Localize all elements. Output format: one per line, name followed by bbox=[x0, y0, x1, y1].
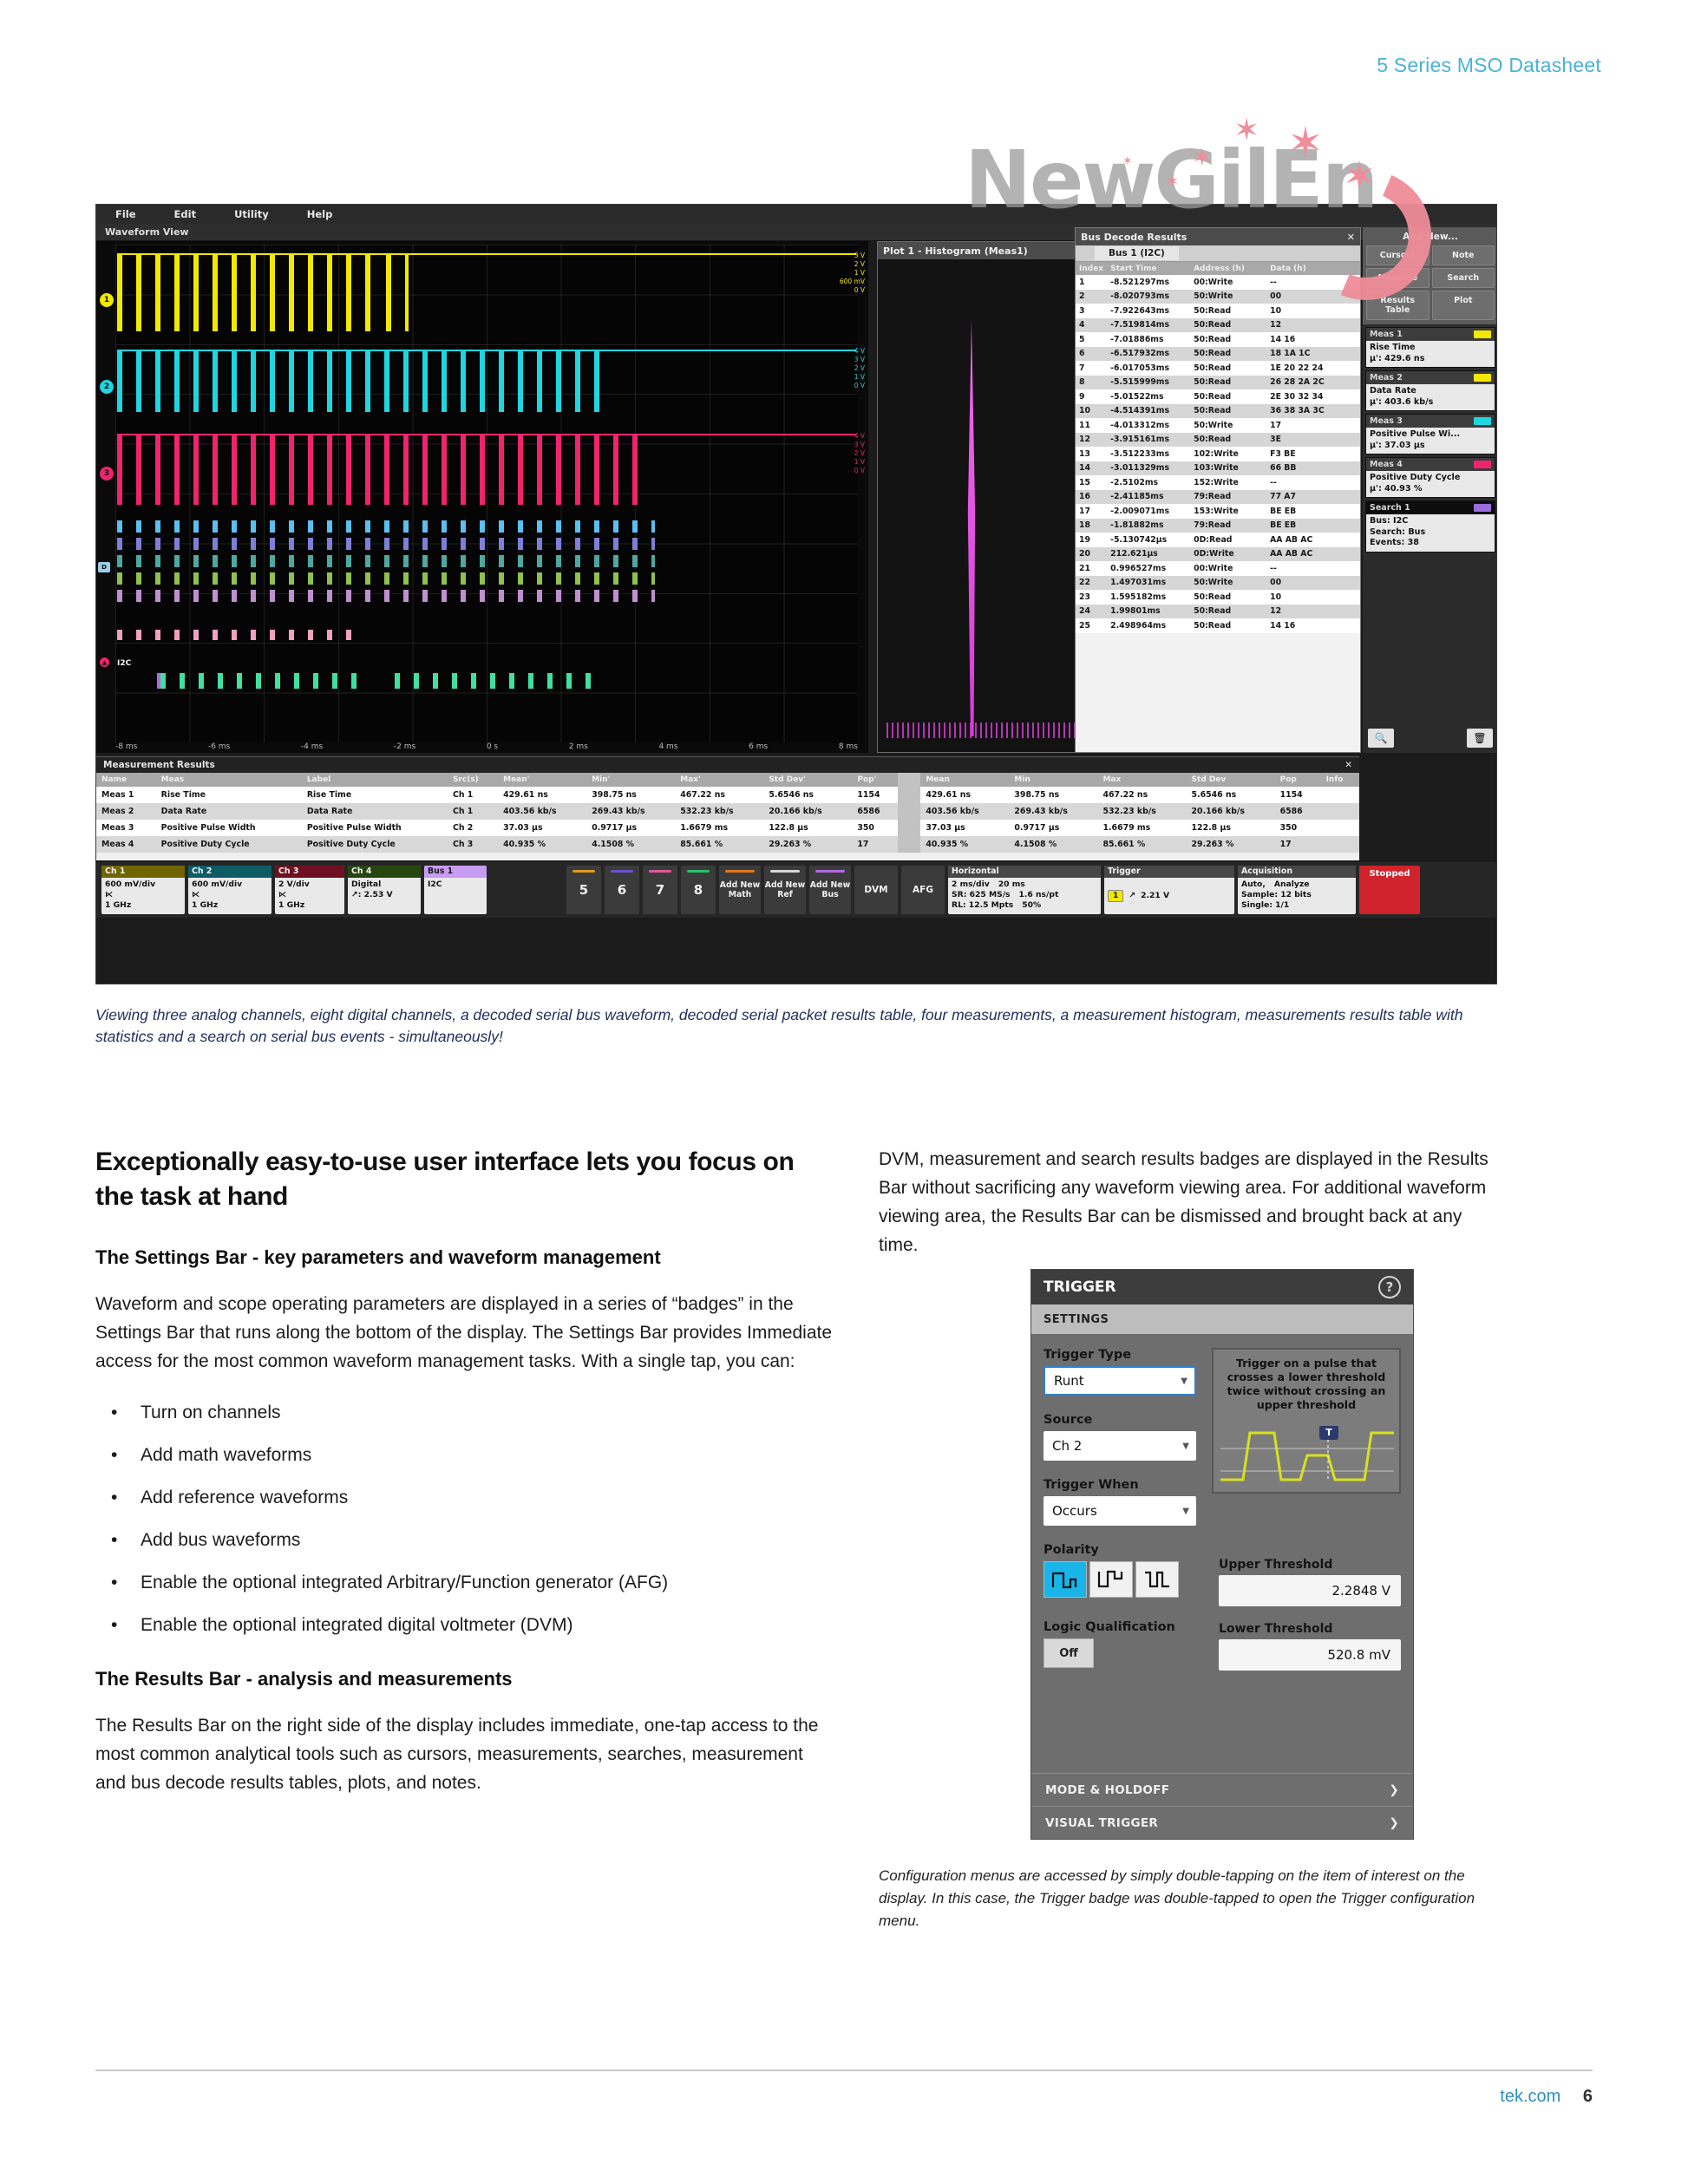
col-label: Label bbox=[302, 773, 448, 787]
afg-button[interactable]: AFG bbox=[901, 866, 945, 914]
cell-max1: 85.661 % bbox=[675, 836, 763, 853]
list-item: Enable the optional integrated Arbitrary… bbox=[95, 1568, 837, 1597]
trigger-illustration-text: Trigger on a pulse that crosses a lower … bbox=[1227, 1357, 1386, 1411]
cell-start-time: -5.01522ms bbox=[1107, 389, 1190, 404]
col-min-1: Min' bbox=[586, 773, 675, 787]
channel-color-bar bbox=[687, 870, 710, 873]
list-item: Turn on channels bbox=[95, 1398, 837, 1427]
channel-color-bar bbox=[572, 870, 595, 873]
cell-data: 00 bbox=[1266, 290, 1360, 304]
cell-pop1: 6586 bbox=[852, 803, 898, 820]
cell-index: 23 bbox=[1076, 590, 1107, 605]
col-src: Src(s) bbox=[448, 773, 498, 787]
badge-name: Search 1 bbox=[1370, 503, 1410, 513]
badge-header: Bus 1 bbox=[424, 866, 487, 878]
menu-utility[interactable]: Utility bbox=[234, 208, 269, 220]
table-row[interactable]: 231.595182ms50:Read10 bbox=[1076, 590, 1360, 605]
chevron-down-icon: ▼ bbox=[1182, 1442, 1189, 1451]
digital-channel-8[interactable]: 8 bbox=[681, 866, 716, 914]
bus-decode-results-panel[interactable]: Bus Decode Results ✕ Bus 1 (I2C) Index S… bbox=[1075, 227, 1361, 753]
menu-file[interactable]: File bbox=[115, 208, 136, 220]
cell-address: 50:Read bbox=[1190, 590, 1266, 605]
settings-bar-gap bbox=[490, 866, 563, 914]
table-row[interactable]: 1-8.521297ms00:Write-- bbox=[1076, 275, 1360, 290]
add-note-button[interactable]: Note bbox=[1432, 245, 1495, 265]
cell-data: 26 28 2A 2C bbox=[1266, 376, 1360, 390]
cell-address: 152:Write bbox=[1190, 475, 1266, 490]
table-row[interactable]: 19-5.130742µs0D:ReadAA AB AC bbox=[1076, 533, 1360, 547]
digital-channel-6[interactable]: 6 bbox=[605, 866, 639, 914]
cell-index: 2 bbox=[1076, 290, 1107, 304]
cell-address: 103:Write bbox=[1190, 461, 1266, 476]
digital-channel-number: 6 bbox=[618, 882, 626, 898]
bus-color-bar bbox=[815, 870, 845, 873]
table-row[interactable]: 2-8.020793ms50:Write00 bbox=[1076, 290, 1360, 304]
table-row[interactable]: 241.99801ms50:Read12 bbox=[1076, 605, 1360, 619]
cell-std2: 122.8 µs bbox=[1187, 820, 1275, 836]
page-left-margin bbox=[0, 0, 29, 2184]
right-column: DVM, measurement and search results badg… bbox=[879, 1145, 1503, 1282]
cell-address: 50:Read bbox=[1190, 318, 1266, 333]
cell-start-time: 1.595182ms bbox=[1107, 590, 1190, 605]
horizontal-position: 50% bbox=[1022, 900, 1041, 911]
ref-color-bar bbox=[770, 870, 800, 873]
table-row[interactable]: 10-4.514391ms50:Read36 38 3A 3C bbox=[1076, 404, 1360, 419]
help-icon[interactable]: ? bbox=[1378, 1276, 1401, 1298]
dvm-button[interactable]: DVM bbox=[854, 866, 898, 914]
cell-data: F3 BE bbox=[1266, 447, 1360, 461]
cell-max1: 532.23 kb/s bbox=[675, 803, 763, 820]
cell-data: 14 16 bbox=[1266, 332, 1360, 347]
cell-address: 50:Read bbox=[1190, 376, 1266, 390]
cell-label: Positive Pulse Width bbox=[302, 820, 448, 836]
channel-1-trace bbox=[117, 253, 856, 331]
time-tick: -6 ms bbox=[208, 742, 230, 751]
measurement-badge-2[interactable]: Meas 2 Data Rate µ': 403.6 kb/s bbox=[1365, 370, 1495, 411]
table-row[interactable]: 3-7.922643ms50:Read10 bbox=[1076, 304, 1360, 318]
cell-pop2: 350 bbox=[1275, 820, 1321, 836]
lower-threshold-input[interactable]: 520.8 mV bbox=[1219, 1639, 1401, 1671]
table-row[interactable]: 221.497031ms50:Write00 bbox=[1076, 576, 1360, 591]
table-row[interactable]: 5-7.01886ms50:Read14 16 bbox=[1076, 332, 1360, 347]
trigger-marker-icon: ▲ bbox=[100, 657, 109, 667]
channel-color-bar bbox=[649, 870, 671, 873]
bus-decode-tab-label: Bus 1 (I2C) bbox=[1095, 246, 1179, 260]
table-row[interactable]: 13-3.512233ms102:WriteF3 BE bbox=[1076, 447, 1360, 461]
channel-2-indicator[interactable]: 2 bbox=[100, 380, 114, 394]
cell-label: Data Rate bbox=[302, 803, 448, 820]
cell-start-time: -4.013312ms bbox=[1107, 418, 1190, 433]
close-icon[interactable]: ✕ bbox=[1345, 760, 1352, 770]
measurement-results-panel[interactable]: Measurement Results ✕ Name Meas Label Sr… bbox=[96, 756, 1359, 860]
cell-meas: Positive Pulse Width bbox=[156, 820, 302, 836]
settings-tab[interactable]: SETTINGS bbox=[1031, 1305, 1413, 1334]
table-row[interactable]: 20212.621µs0D:WriteAA AB AC bbox=[1076, 547, 1360, 562]
waveform-area[interactable]: 1 3 V2 V1 V600 mV0 V 2 4 V3 V2 V1 V0 V 3… bbox=[96, 241, 868, 753]
paragraph-results-bar: The Results Bar on the right side of the… bbox=[95, 1711, 837, 1797]
run-stop-status[interactable]: Stopped bbox=[1359, 866, 1420, 914]
cell-address: 50:Write bbox=[1190, 290, 1266, 304]
add-plot-button[interactable]: Plot bbox=[1432, 291, 1495, 320]
source-chip-icon bbox=[1474, 417, 1491, 425]
cell-index: 19 bbox=[1076, 533, 1107, 547]
subheading-results-bar: The Results Bar - analysis and measureme… bbox=[95, 1665, 837, 1692]
table-row[interactable]: 4-7.519814ms50:Read12 bbox=[1076, 318, 1360, 333]
cell-address: 50:Read bbox=[1190, 361, 1266, 376]
horizontal-duration: 20 ms bbox=[998, 879, 1025, 890]
mode-holdoff-row[interactable]: MODE & HOLDOFF ❯ bbox=[1031, 1773, 1413, 1806]
channel-3-indicator[interactable]: 3 bbox=[100, 467, 114, 481]
cell-address: 102:Write bbox=[1190, 447, 1266, 461]
search-badge-1[interactable]: Search 1 Bus: I2C Search: Bus Events: 38 bbox=[1365, 500, 1495, 553]
cell-data: 00 bbox=[1266, 576, 1360, 591]
cell-start-time: -7.01886ms bbox=[1107, 332, 1190, 347]
cell-max2: 85.661 % bbox=[1097, 836, 1186, 853]
table-row[interactable]: 210.996527ms00:Write-- bbox=[1076, 561, 1360, 576]
cell-name: Meas 3 bbox=[96, 820, 156, 836]
cell-start-time: -2.41185ms bbox=[1107, 490, 1190, 505]
channel-badge-1[interactable]: Ch 1 600 mV/div ⋉ 1 GHz bbox=[101, 866, 185, 914]
badge-bandwidth: 1 GHz bbox=[278, 900, 341, 911]
cell-data: 66 BB bbox=[1266, 461, 1360, 476]
table-row[interactable]: 14-3.011329ms103:Write66 BB bbox=[1076, 461, 1360, 476]
table-row[interactable]: 17-2.009071ms153:WriteBE EB bbox=[1076, 504, 1360, 519]
chevron-right-icon: ❯ bbox=[1389, 1783, 1399, 1797]
cell-start-time: -2.009071ms bbox=[1107, 504, 1190, 519]
col-start-time: Start Time bbox=[1107, 262, 1190, 275]
acquisition-mode: Auto, bbox=[1241, 879, 1266, 890]
badge-body: Data Rate µ': 403.6 kb/s bbox=[1366, 384, 1495, 410]
cell-src: Ch 3 bbox=[448, 836, 498, 853]
bus-label: I2C bbox=[117, 659, 131, 668]
cell-pop2: 6586 bbox=[1275, 803, 1321, 820]
cell-data: 10 bbox=[1266, 304, 1360, 318]
channel-1-indicator[interactable]: 1 bbox=[100, 293, 114, 307]
badge-bandwidth: 1 GHz bbox=[105, 900, 181, 911]
polarity-either-button[interactable] bbox=[1135, 1561, 1179, 1598]
cell-src: Ch 1 bbox=[448, 787, 498, 803]
table-row[interactable]: 8-5.515999ms50:Read26 28 2A 2C bbox=[1076, 376, 1360, 390]
positive-runt-icon bbox=[1051, 1569, 1079, 1590]
menu-edit[interactable]: Edit bbox=[174, 208, 197, 220]
cell-data: -- bbox=[1266, 475, 1360, 490]
badge-body: I2C bbox=[424, 878, 487, 914]
cell-min2: 269.43 kb/s bbox=[1009, 803, 1097, 820]
add-new-title: Add New... bbox=[1366, 230, 1495, 245]
add-cursors-button[interactable]: Cursors bbox=[1366, 245, 1430, 265]
negative-runt-icon bbox=[1097, 1569, 1125, 1590]
badge-scale: 600 mV/div bbox=[192, 879, 268, 890]
badge-line2: µ': 403.6 kb/s bbox=[1370, 397, 1491, 409]
badge-name: Meas 2 bbox=[1370, 373, 1403, 383]
digital-group-indicator[interactable]: D bbox=[98, 562, 110, 572]
table-row[interactable]: Meas 1 Rise Time Rise Time Ch 1 429.61 n… bbox=[96, 787, 1359, 803]
cell-start-time: -8.521297ms bbox=[1107, 275, 1190, 290]
cell-name: Meas 1 bbox=[96, 787, 156, 803]
trigger-figure-caption: Configuration menus are accessed by simp… bbox=[879, 1865, 1512, 1932]
cell-std1: 122.8 µs bbox=[763, 820, 852, 836]
cell-data: AA AB AC bbox=[1266, 547, 1360, 562]
channel-badge-4[interactable]: Ch 4 Digital ↗: 2.53 V bbox=[348, 866, 421, 914]
table-row[interactable]: 9-5.01522ms50:Read2E 30 32 34 bbox=[1076, 389, 1360, 404]
col-max-2: Max bbox=[1097, 773, 1186, 787]
table-row[interactable]: 7-6.017053ms50:Read1E 20 22 24 bbox=[1076, 361, 1360, 376]
source-chip-icon bbox=[1474, 330, 1491, 338]
badge-scale: 2 V/div bbox=[278, 879, 341, 890]
col-stddev-2: Std Dev bbox=[1187, 773, 1275, 787]
add-search-button[interactable]: Search bbox=[1432, 268, 1495, 288]
channel-2-volt-labels: 4 V3 V2 V1 V0 V bbox=[854, 347, 865, 390]
cell-min1: 398.75 ns bbox=[586, 787, 675, 803]
badge-name: Meas 3 bbox=[1370, 416, 1403, 426]
badge-header: Ch 1 bbox=[101, 866, 185, 878]
channel-badge-2[interactable]: Ch 2 600 mV/div ⋉ 1 GHz bbox=[188, 866, 272, 914]
table-row[interactable]: Meas 3 Positive Pulse Width Positive Pul… bbox=[96, 820, 1359, 836]
cell-index: 20 bbox=[1076, 547, 1107, 562]
search-events: Events: 38 bbox=[1370, 538, 1491, 549]
source-value: Ch 2 bbox=[1052, 1438, 1082, 1454]
cell-index: 6 bbox=[1076, 347, 1107, 362]
trigger-menu-footer: MODE & HOLDOFF ❯ VISUAL TRIGGER ❯ bbox=[1031, 1773, 1413, 1839]
table-row[interactable]: 252.498964ms50:Read14 16 bbox=[1076, 618, 1360, 633]
bus-decode-table: Index Start Time Address (h) Data (h) 1-… bbox=[1076, 262, 1360, 633]
cell-data: -- bbox=[1266, 275, 1360, 290]
coupling-icon: ⋉ bbox=[278, 890, 341, 900]
time-tick: 0 s bbox=[487, 742, 498, 751]
measurement-results-body: Meas 1 Rise Time Rise Time Ch 1 429.61 n… bbox=[96, 787, 1359, 853]
cell-min2: 398.75 ns bbox=[1009, 787, 1097, 803]
lower-threshold-label: Lower Threshold bbox=[1219, 1622, 1401, 1636]
time-tick: -2 ms bbox=[394, 742, 415, 751]
horizontal-resolution: 1.6 ns/pt bbox=[1019, 890, 1059, 900]
cell-spacer bbox=[898, 803, 920, 820]
trigger-badge[interactable]: Trigger 1 ↗ 2.21 V bbox=[1104, 866, 1234, 914]
measurement-badge-3[interactable]: Meas 3 Positive Pulse Wi... µ': 37.03 µs bbox=[1365, 414, 1495, 454]
bus-decode-header: Bus Decode Results ✕ bbox=[1076, 228, 1360, 245]
cell-index: 3 bbox=[1076, 304, 1107, 318]
cell-start-time: -6.517932ms bbox=[1107, 347, 1190, 362]
col-mean-2: Mean bbox=[920, 773, 1009, 787]
badge-name: Meas 1 bbox=[1370, 330, 1403, 339]
star-icon: ✶ bbox=[1233, 114, 1259, 146]
badge-line1: Data Rate bbox=[1370, 386, 1491, 397]
measurement-results-title: Measurement Results bbox=[103, 760, 215, 770]
badge-body: 2 ms/div 20 ms SR: 625 MS/s 1.6 ns/pt RL… bbox=[948, 878, 1101, 914]
measurement-results-table: Name Meas Label Src(s) Mean' Min' Max' S… bbox=[96, 773, 1359, 853]
cell-data: 77 A7 bbox=[1266, 490, 1360, 505]
upper-threshold-label: Upper Threshold bbox=[1219, 1558, 1401, 1572]
badge-body: Digital ↗: 2.53 V bbox=[348, 878, 421, 914]
table-row[interactable]: 12-3.915161ms50:Read3E bbox=[1076, 433, 1360, 448]
add-new-bus-button[interactable]: Add New Bus bbox=[809, 866, 851, 914]
add-measure-button[interactable]: Measure bbox=[1366, 268, 1430, 288]
add-new-grid: Cursors Note Measure Search Results Tabl… bbox=[1366, 245, 1495, 320]
visual-trigger-label: VISUAL TRIGGER bbox=[1045, 1816, 1158, 1830]
cell-mean2: 429.61 ns bbox=[920, 787, 1009, 803]
add-new-panel: Add New... Cursors Note Measure Search R… bbox=[1363, 227, 1497, 324]
paragraph-settings-bar: Waveform and scope operating parameters … bbox=[95, 1290, 837, 1376]
cell-std2: 29.263 % bbox=[1187, 836, 1275, 853]
trigger-menu-header: TRIGGER ? bbox=[1031, 1270, 1413, 1305]
cell-index: 8 bbox=[1076, 376, 1107, 390]
trigger-type-select[interactable]: Runt ▼ bbox=[1044, 1366, 1196, 1396]
badge-body: Positive Duty Cycle µ': 40.93 % bbox=[1366, 471, 1495, 497]
col-mean-1: Mean' bbox=[498, 773, 586, 787]
add-new-ref-button[interactable]: Add New Ref bbox=[764, 866, 806, 914]
trigger-edge-icon: ↗ bbox=[1129, 891, 1135, 901]
badge-body: 600 mV/div ⋉ 1 GHz bbox=[101, 878, 185, 914]
bus-waveform-trace bbox=[117, 630, 856, 666]
cell-data: BE EB bbox=[1266, 504, 1360, 519]
horizontal-badge[interactable]: Horizontal 2 ms/div 20 ms SR: 625 MS/s 1… bbox=[948, 866, 1101, 914]
cell-min1: 269.43 kb/s bbox=[586, 803, 675, 820]
cell-min2: 0.9717 µs bbox=[1009, 820, 1097, 836]
bus-decode-tab[interactable]: Bus 1 (I2C) bbox=[1076, 245, 1360, 262]
cell-index: 13 bbox=[1076, 447, 1107, 461]
polarity-positive-button[interactable] bbox=[1044, 1561, 1087, 1598]
cell-address: 153:Write bbox=[1190, 504, 1266, 519]
badge-line2: µ': 40.93 % bbox=[1370, 484, 1491, 495]
runt-pulse-diagram: T bbox=[1220, 1426, 1394, 1488]
cell-meas: Positive Duty Cycle bbox=[156, 836, 302, 853]
trigger-when-select[interactable]: Occurs ▼ bbox=[1044, 1496, 1196, 1526]
source-select[interactable]: Ch 2 ▼ bbox=[1044, 1431, 1196, 1461]
cell-max2: 532.23 kb/s bbox=[1097, 803, 1186, 820]
table-row[interactable]: 15-2.5102ms152:Write-- bbox=[1076, 475, 1360, 490]
add-results-table-button[interactable]: Results Table bbox=[1366, 291, 1430, 320]
cell-std1: 29.263 % bbox=[763, 836, 852, 853]
polarity-label: Polarity bbox=[1044, 1543, 1401, 1557]
cell-data: 17 bbox=[1266, 418, 1360, 433]
cell-address: 50:Write bbox=[1190, 576, 1266, 591]
table-row[interactable]: Meas 2 Data Rate Data Rate Ch 1 403.56 k… bbox=[96, 803, 1359, 820]
cell-max1: 467.22 ns bbox=[675, 787, 763, 803]
table-row[interactable]: 11-4.013312ms50:Write17 bbox=[1076, 418, 1360, 433]
results-bar[interactable]: Add New... Cursors Note Measure Search R… bbox=[1363, 227, 1497, 753]
cell-spacer bbox=[898, 820, 920, 836]
badge-body: Rise Time µ': 429.6 ns bbox=[1366, 341, 1495, 367]
zoom-icon[interactable]: 🔍 bbox=[1368, 729, 1394, 748]
cell-data: 12 bbox=[1266, 605, 1360, 619]
trigger-menu-body: Trigger on a pulse that crosses a lower … bbox=[1031, 1334, 1413, 1682]
table-row[interactable]: Meas 4 Positive Duty Cycle Positive Duty… bbox=[96, 836, 1359, 853]
channel-badge-3[interactable]: Ch 3 2 V/div ⋉ 1 GHz bbox=[275, 866, 344, 914]
trigger-configuration-menu[interactable]: TRIGGER ? SETTINGS Trigger on a pulse th… bbox=[1030, 1269, 1414, 1840]
badge-body: 2 V/div ⋉ 1 GHz bbox=[275, 878, 344, 914]
table-row[interactable]: 18-1.81882ms79:ReadBE EB bbox=[1076, 519, 1360, 533]
cell-data: AA AB AC bbox=[1266, 533, 1360, 547]
chevron-right-icon: ❯ bbox=[1389, 1816, 1399, 1830]
badge-body: Positive Pulse Wi... µ': 37.03 µs bbox=[1366, 428, 1495, 454]
star-icon: ✶ bbox=[1192, 146, 1212, 170]
horizontal-record-length: RL: 12.5 Mpts bbox=[952, 900, 1013, 911]
cell-start-time: -3.915161ms bbox=[1107, 433, 1190, 448]
digital-channel-number: 5 bbox=[579, 882, 588, 898]
polarity-negative-button[interactable] bbox=[1089, 1561, 1133, 1598]
cell-index: 18 bbox=[1076, 519, 1107, 533]
measurement-header-row: Name Meas Label Src(s) Mean' Min' Max' S… bbox=[96, 773, 1359, 787]
digital-channel-7[interactable]: 7 bbox=[643, 866, 677, 914]
cell-min2: 4.1508 % bbox=[1009, 836, 1097, 853]
section-heading: Exceptionally easy-to-use user interface… bbox=[95, 1145, 837, 1214]
cell-index: 10 bbox=[1076, 404, 1107, 419]
cell-address: 79:Read bbox=[1190, 519, 1266, 533]
visual-trigger-row[interactable]: VISUAL TRIGGER ❯ bbox=[1031, 1806, 1413, 1839]
cell-index: 5 bbox=[1076, 332, 1107, 347]
trigger-source-chip: 1 bbox=[1108, 890, 1123, 902]
cell-address: 79:Read bbox=[1190, 490, 1266, 505]
cell-info bbox=[1321, 820, 1359, 836]
cell-start-time: -6.017053ms bbox=[1107, 361, 1190, 376]
chevron-down-icon: ▼ bbox=[1181, 1376, 1187, 1386]
badge-body: Auto, Analyze Sample: 12 bits Single: 1/… bbox=[1238, 878, 1356, 914]
cell-data: 1E 20 22 24 bbox=[1266, 361, 1360, 376]
cell-start-time: 1.99801ms bbox=[1107, 605, 1190, 619]
star-icon: ✶ bbox=[1122, 154, 1133, 167]
cell-index: 12 bbox=[1076, 433, 1107, 448]
horizontal-timebase: 2 ms/div bbox=[952, 879, 990, 890]
cell-start-time: 1.497031ms bbox=[1107, 576, 1190, 591]
cell-pop1: 1154 bbox=[852, 787, 898, 803]
table-row[interactable]: 6-6.517932ms50:Read18 1A 1C bbox=[1076, 347, 1360, 362]
logic-qualification-toggle[interactable]: Off bbox=[1044, 1638, 1094, 1668]
cell-mean2: 37.03 µs bbox=[920, 820, 1009, 836]
acquisition-sample: Sample: 12 bits bbox=[1241, 890, 1352, 900]
cell-index: 15 bbox=[1076, 475, 1107, 490]
measurement-badge-4[interactable]: Meas 4 Positive Duty Cycle µ': 40.93 % bbox=[1365, 457, 1495, 498]
cell-mean2: 403.56 kb/s bbox=[920, 803, 1009, 820]
cell-mean1: 40.935 % bbox=[498, 836, 586, 853]
horizontal-row-2: SR: 625 MS/s 1.6 ns/pt bbox=[952, 890, 1097, 900]
close-icon[interactable]: ✕ bbox=[1347, 232, 1355, 243]
cell-spacer bbox=[898, 836, 920, 853]
mode-holdoff-label: MODE & HOLDOFF bbox=[1045, 1783, 1169, 1797]
digital-channel-5[interactable]: 5 bbox=[566, 866, 601, 914]
add-new-bus-label: Add New Bus bbox=[809, 880, 851, 900]
add-new-math-button[interactable]: Add New Math bbox=[719, 866, 761, 914]
time-axis: -8 ms -6 ms -4 ms -2 ms 0 s 2 ms 4 ms 6 … bbox=[115, 742, 858, 751]
bus-badge-1[interactable]: Bus 1 I2C bbox=[424, 866, 487, 914]
upper-threshold-input[interactable]: 2.2848 V bbox=[1219, 1575, 1401, 1606]
time-tick: 6 ms bbox=[749, 742, 768, 751]
add-new-ref-label: Add New Ref bbox=[764, 880, 806, 900]
trigger-illustration: Trigger on a pulse that crosses a lower … bbox=[1212, 1348, 1401, 1494]
digital-channel-number: 7 bbox=[656, 882, 664, 898]
cell-max2: 1.6679 ms bbox=[1097, 820, 1186, 836]
coupling-icon: ⋉ bbox=[105, 890, 181, 900]
measurement-badge-1[interactable]: Meas 1 Rise Time µ': 429.6 ns bbox=[1365, 327, 1495, 368]
cell-index: 7 bbox=[1076, 361, 1107, 376]
footer-site-link[interactable]: tek.com bbox=[1500, 2087, 1560, 2106]
cell-start-time: -3.011329ms bbox=[1107, 461, 1190, 476]
col-pop-1: Pop' bbox=[852, 773, 898, 787]
table-row[interactable]: 16-2.41185ms79:Read77 A7 bbox=[1076, 490, 1360, 505]
delete-icon[interactable]: 🗑 bbox=[1467, 729, 1493, 748]
time-tick: 8 ms bbox=[839, 742, 858, 751]
badge-header: Search 1 bbox=[1366, 501, 1495, 514]
measurement-results-header: Measurement Results ✕ bbox=[96, 757, 1359, 773]
cell-index: 17 bbox=[1076, 504, 1107, 519]
acquisition-badge[interactable]: Acquisition Auto, Analyze Sample: 12 bit… bbox=[1238, 866, 1356, 914]
star-icon: ✶ bbox=[1287, 121, 1324, 165]
cell-index: 1 bbox=[1076, 275, 1107, 290]
results-bar-tools: 🔍 🗑 bbox=[1368, 729, 1493, 748]
acquisition-single: Single: 1/1 bbox=[1241, 900, 1352, 911]
cell-start-time: -1.81882ms bbox=[1107, 519, 1190, 533]
settings-bar[interactable]: Ch 1 600 mV/div ⋉ 1 GHz Ch 2 600 mV/div … bbox=[96, 862, 1497, 918]
badge-scale: 600 mV/div bbox=[105, 879, 181, 890]
menu-help[interactable]: Help bbox=[307, 208, 333, 220]
